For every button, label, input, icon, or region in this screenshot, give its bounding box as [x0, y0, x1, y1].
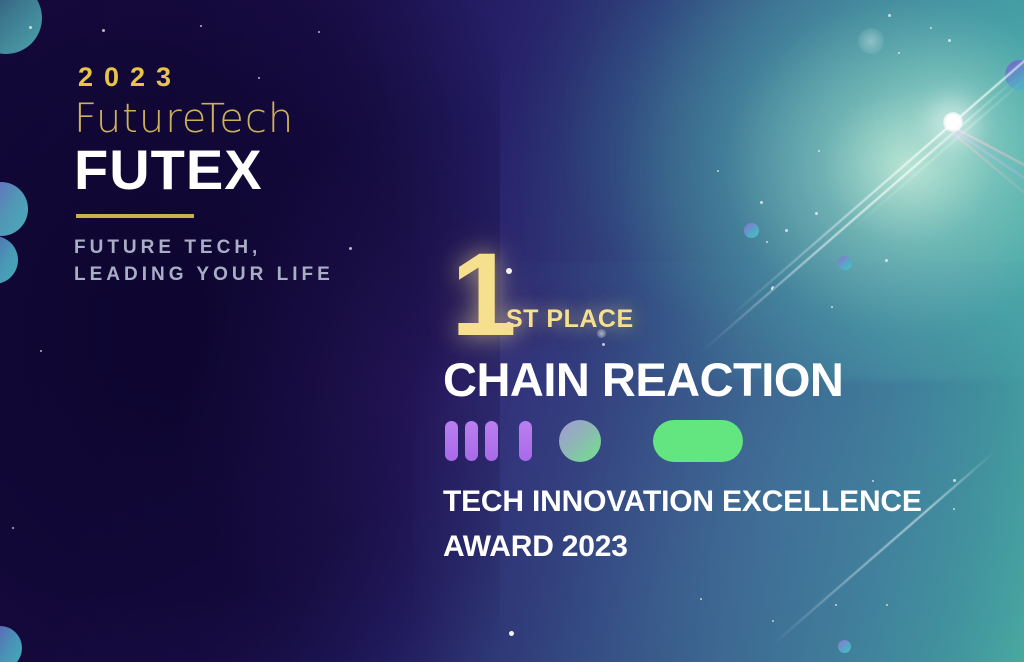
- star-dot-icon: [40, 350, 42, 352]
- winner-name: CHAIN REACTION: [443, 356, 1003, 403]
- logo-bar-3: [485, 421, 498, 461]
- rank-badge: 1 ST PLACE: [443, 244, 1003, 340]
- logo-year: 2023: [78, 64, 434, 91]
- logo-tagline: FUTURE TECH, LEADING YOUR LIFE: [74, 234, 434, 289]
- logo-bar-4: [519, 421, 532, 461]
- star-dot-icon: [785, 229, 788, 232]
- star-dot-icon: [717, 170, 719, 172]
- star-dot-icon: [835, 604, 837, 606]
- bubble-right-faint-icon: [858, 28, 884, 54]
- star-dot-icon: [760, 201, 763, 204]
- logo-tagline-line1: FUTURE TECH,: [74, 234, 434, 262]
- logo-divider: [76, 214, 194, 218]
- award-title-line1: TECH INNOVATION EXCELLENCE: [443, 479, 983, 524]
- star-dot-icon: [815, 212, 818, 215]
- star-dot-icon: [29, 26, 32, 29]
- star-dot-icon: [930, 27, 932, 29]
- award-title-line2: AWARD 2023: [443, 524, 983, 569]
- star-dot-icon: [200, 25, 202, 27]
- star-dot-icon: [886, 604, 888, 606]
- star-dot-icon: [766, 241, 768, 243]
- logo-event-name: FutureTech: [74, 99, 434, 139]
- logo-bar-1: [445, 421, 458, 461]
- logo-wordmark: FUTEX: [74, 141, 434, 200]
- logo-circle-mark: [559, 420, 601, 462]
- logo-pill-mark: [653, 420, 743, 462]
- star-dot-icon: [102, 29, 105, 32]
- star-dot-icon: [888, 14, 891, 17]
- award-title-text: TECH INNOVATION EXCELLENCE AWARD 2023: [443, 479, 983, 569]
- rank-number: 1: [451, 236, 517, 354]
- star-dot-icon: [318, 31, 320, 33]
- bubble-right-a-icon: [744, 223, 759, 238]
- futex-logo-block: 2023 FutureTech FUTEX FUTURE TECH, LEADI…: [74, 64, 434, 289]
- logo-tagline-line2: LEADING YOUR LIFE: [74, 261, 434, 289]
- star-dot-icon: [700, 598, 702, 600]
- star-dot-icon: [12, 527, 14, 529]
- star-dot-icon: [818, 150, 820, 152]
- star-dot-icon: [509, 631, 514, 636]
- star-dot-icon: [948, 39, 951, 42]
- star-dot-icon: [898, 52, 900, 54]
- logo-bar-2: [465, 421, 478, 461]
- star-dot-icon: [772, 620, 774, 622]
- winner-logo: [445, 419, 1003, 463]
- bubble-bottom-right-icon: [838, 640, 851, 653]
- rank-suffix: ST PLACE: [506, 305, 634, 334]
- award-block: 1 ST PLACE CHAIN REACTION TECH INNOVATIO…: [443, 244, 1003, 569]
- award-poster: 2023 FutureTech FUTEX FUTURE TECH, LEADI…: [0, 0, 1024, 662]
